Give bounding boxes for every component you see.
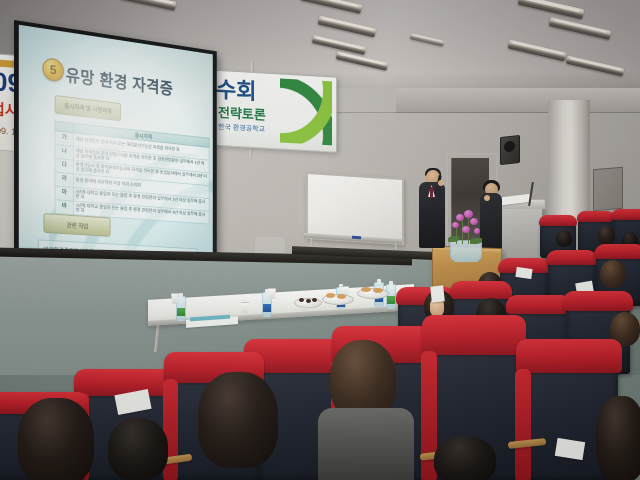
seat-headrest [506,295,573,314]
pastry-item [361,287,371,292]
presentation-slide: 5 유망 환경 자격증 응시자격 및 시험과목 응시자격 가 해당 자격증의 분… [19,25,213,275]
banner-main-line2: 전략토론 [218,106,266,122]
row-key: 바 [55,200,73,215]
projection-screen-surface: 5 유망 환경 자격증 응시자격 및 시험과목 응시자격 가 해당 자격증의 분… [19,25,213,275]
slide-title: 유망 환경 자격증 [66,61,174,99]
slide-top-button: 응시자격 및 시험과목 [55,95,121,121]
flower-leaf [448,236,459,242]
snack-item [312,298,317,302]
slide-table: 응시자격 가 해당 자격증의 분야 지사 또는 해석분석기능인 자격을 취득한 … [55,121,210,225]
flower-blossom [452,222,459,228]
paper-cup [241,302,249,313]
seat-headrest [611,209,640,220]
seat-headrest [74,369,178,396]
pastry-item [373,288,383,293]
banner-main: 수회 전략토론 한국 환경공학교 [207,69,337,152]
slide-bottom-button: 관련 직업 [43,213,110,237]
assistant-body [480,193,502,251]
wall-vent-panel [593,167,623,212]
wall-panel [254,236,286,254]
audience-head [434,436,496,480]
flower-leaf [470,238,482,244]
seat-headrest [563,291,632,311]
banner-main-line1: 수회 [216,79,256,103]
seat-headrest [546,250,598,265]
whiteboard-marker [352,236,361,240]
handout-paper [430,285,445,302]
audience-head [600,260,626,288]
snack-item [299,298,304,302]
audience-head [556,230,572,247]
flower-blossom [470,218,478,225]
seat-headrest [594,244,640,259]
paper-cup [171,293,179,304]
pastry-item [326,293,335,298]
banner-swoosh-graphic [280,78,332,145]
wall-speaker-icon [500,135,520,165]
seat-headrest [516,339,622,373]
speaker-tie [430,187,433,198]
audience-head [18,398,94,480]
snack-item [306,299,311,303]
seat-headrest [422,315,526,355]
audience-head [198,372,278,468]
assistant-hand [484,195,490,201]
flower-blossom [456,214,464,221]
seat-headrest [539,215,578,225]
audience-shoulders [318,408,414,480]
row-key: 라 [55,172,73,187]
audience-head [598,226,615,245]
audience-head [596,396,640,480]
row-key: 마 [55,186,73,201]
banner-main-line3: 한국 환경공학교 [218,124,265,134]
speaker-hand [438,180,444,186]
flower-blossom [462,226,470,233]
slide-number-badge: 5 [42,57,63,82]
seat-headrest [577,211,616,222]
audience-head [108,418,168,480]
water-bottle [386,284,396,309]
handout-paper [515,267,532,279]
flower-blossom [474,228,480,234]
photograph-scene: 수회 전략토론 한국 환경공학교 09 업시 009. 11. 5 유망 환경 … [0,0,640,480]
seat-headrest [450,281,513,299]
pastry-item [337,294,346,299]
wall-soffit [396,88,640,113]
seat-side-pad [515,369,531,480]
flower-blossom [464,210,473,218]
paper-cup [268,288,276,299]
